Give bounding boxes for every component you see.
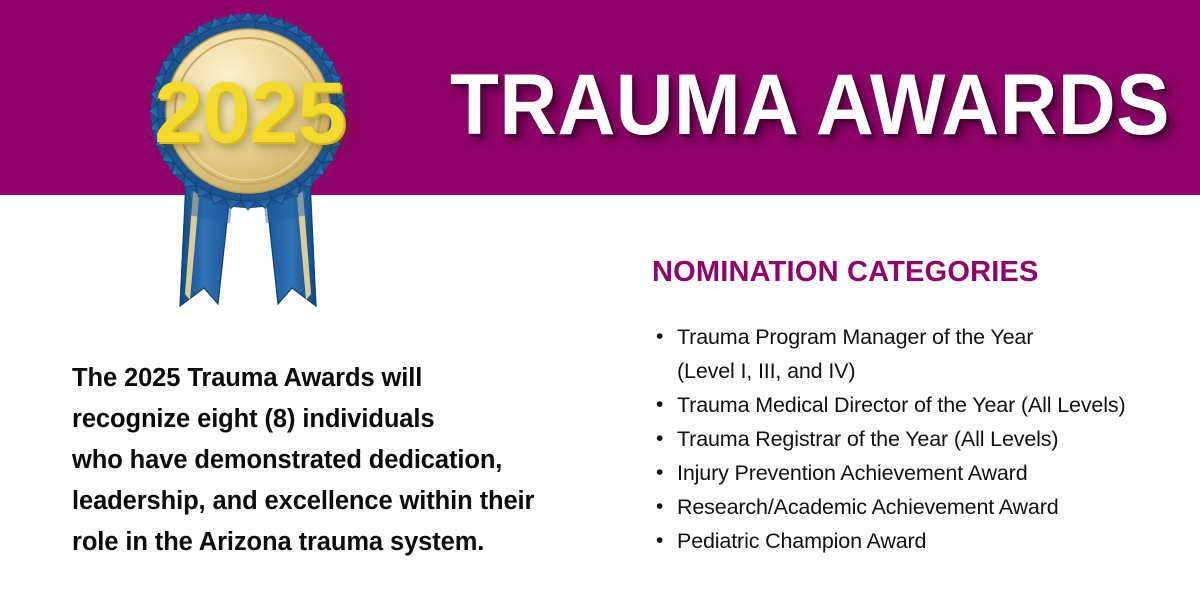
list-item: • Pediatric Champion Award [652, 524, 1182, 558]
list-item: • Trauma Registrar of the Year (All Leve… [652, 422, 1182, 456]
list-item-label: Pediatric Champion Award [677, 529, 926, 553]
bullet-icon: • [656, 320, 663, 354]
gold-medallion [166, 29, 330, 193]
bullet-icon: • [656, 490, 663, 524]
bullet-icon: • [656, 388, 663, 422]
list-item: • Trauma Medical Director of the Year (A… [652, 388, 1182, 422]
list-item-label: Trauma Program Manager of the Year [677, 325, 1033, 349]
description-line: role in the Arizona trauma system. [72, 522, 612, 563]
list-item-label: Trauma Medical Director of the Year (All… [677, 393, 1125, 417]
list-item-label: Research/Academic Achievement Award [677, 495, 1059, 519]
list-item-label: Trauma Registrar of the Year (All Levels… [677, 427, 1058, 451]
description-line: leadership, and excellence within their [72, 481, 612, 522]
description-line: who have demonstrated dedication, [72, 440, 612, 481]
list-item-label: Injury Prevention Achievement Award [677, 461, 1028, 485]
list-item: • Research/Academic Achievement Award [652, 490, 1182, 524]
nomination-categories-list: • Trauma Program Manager of the Year (Le… [652, 320, 1182, 558]
description-paragraph: The 2025 Trauma Awards will recognize ei… [72, 358, 612, 563]
list-item-sublabel: (Level I, III, and IV) [677, 354, 1182, 388]
list-item: • Trauma Program Manager of the Year (Le… [652, 320, 1182, 388]
description-line: The 2025 Trauma Awards will [72, 358, 612, 399]
nomination-categories-heading: NOMINATION CATEGORIES [652, 256, 1039, 288]
list-item: • Injury Prevention Achievement Award [652, 456, 1182, 490]
description-line: recognize eight (8) individuals [72, 399, 612, 440]
award-ribbon-graphic: 2025 [118, 8, 378, 308]
bullet-icon: • [656, 456, 663, 490]
page-title: TRAUMA AWARDS [450, 62, 1170, 148]
trauma-awards-poster: TRAUMA AWARDS [0, 0, 1200, 600]
bullet-icon: • [656, 524, 663, 558]
bullet-icon: • [656, 422, 663, 456]
